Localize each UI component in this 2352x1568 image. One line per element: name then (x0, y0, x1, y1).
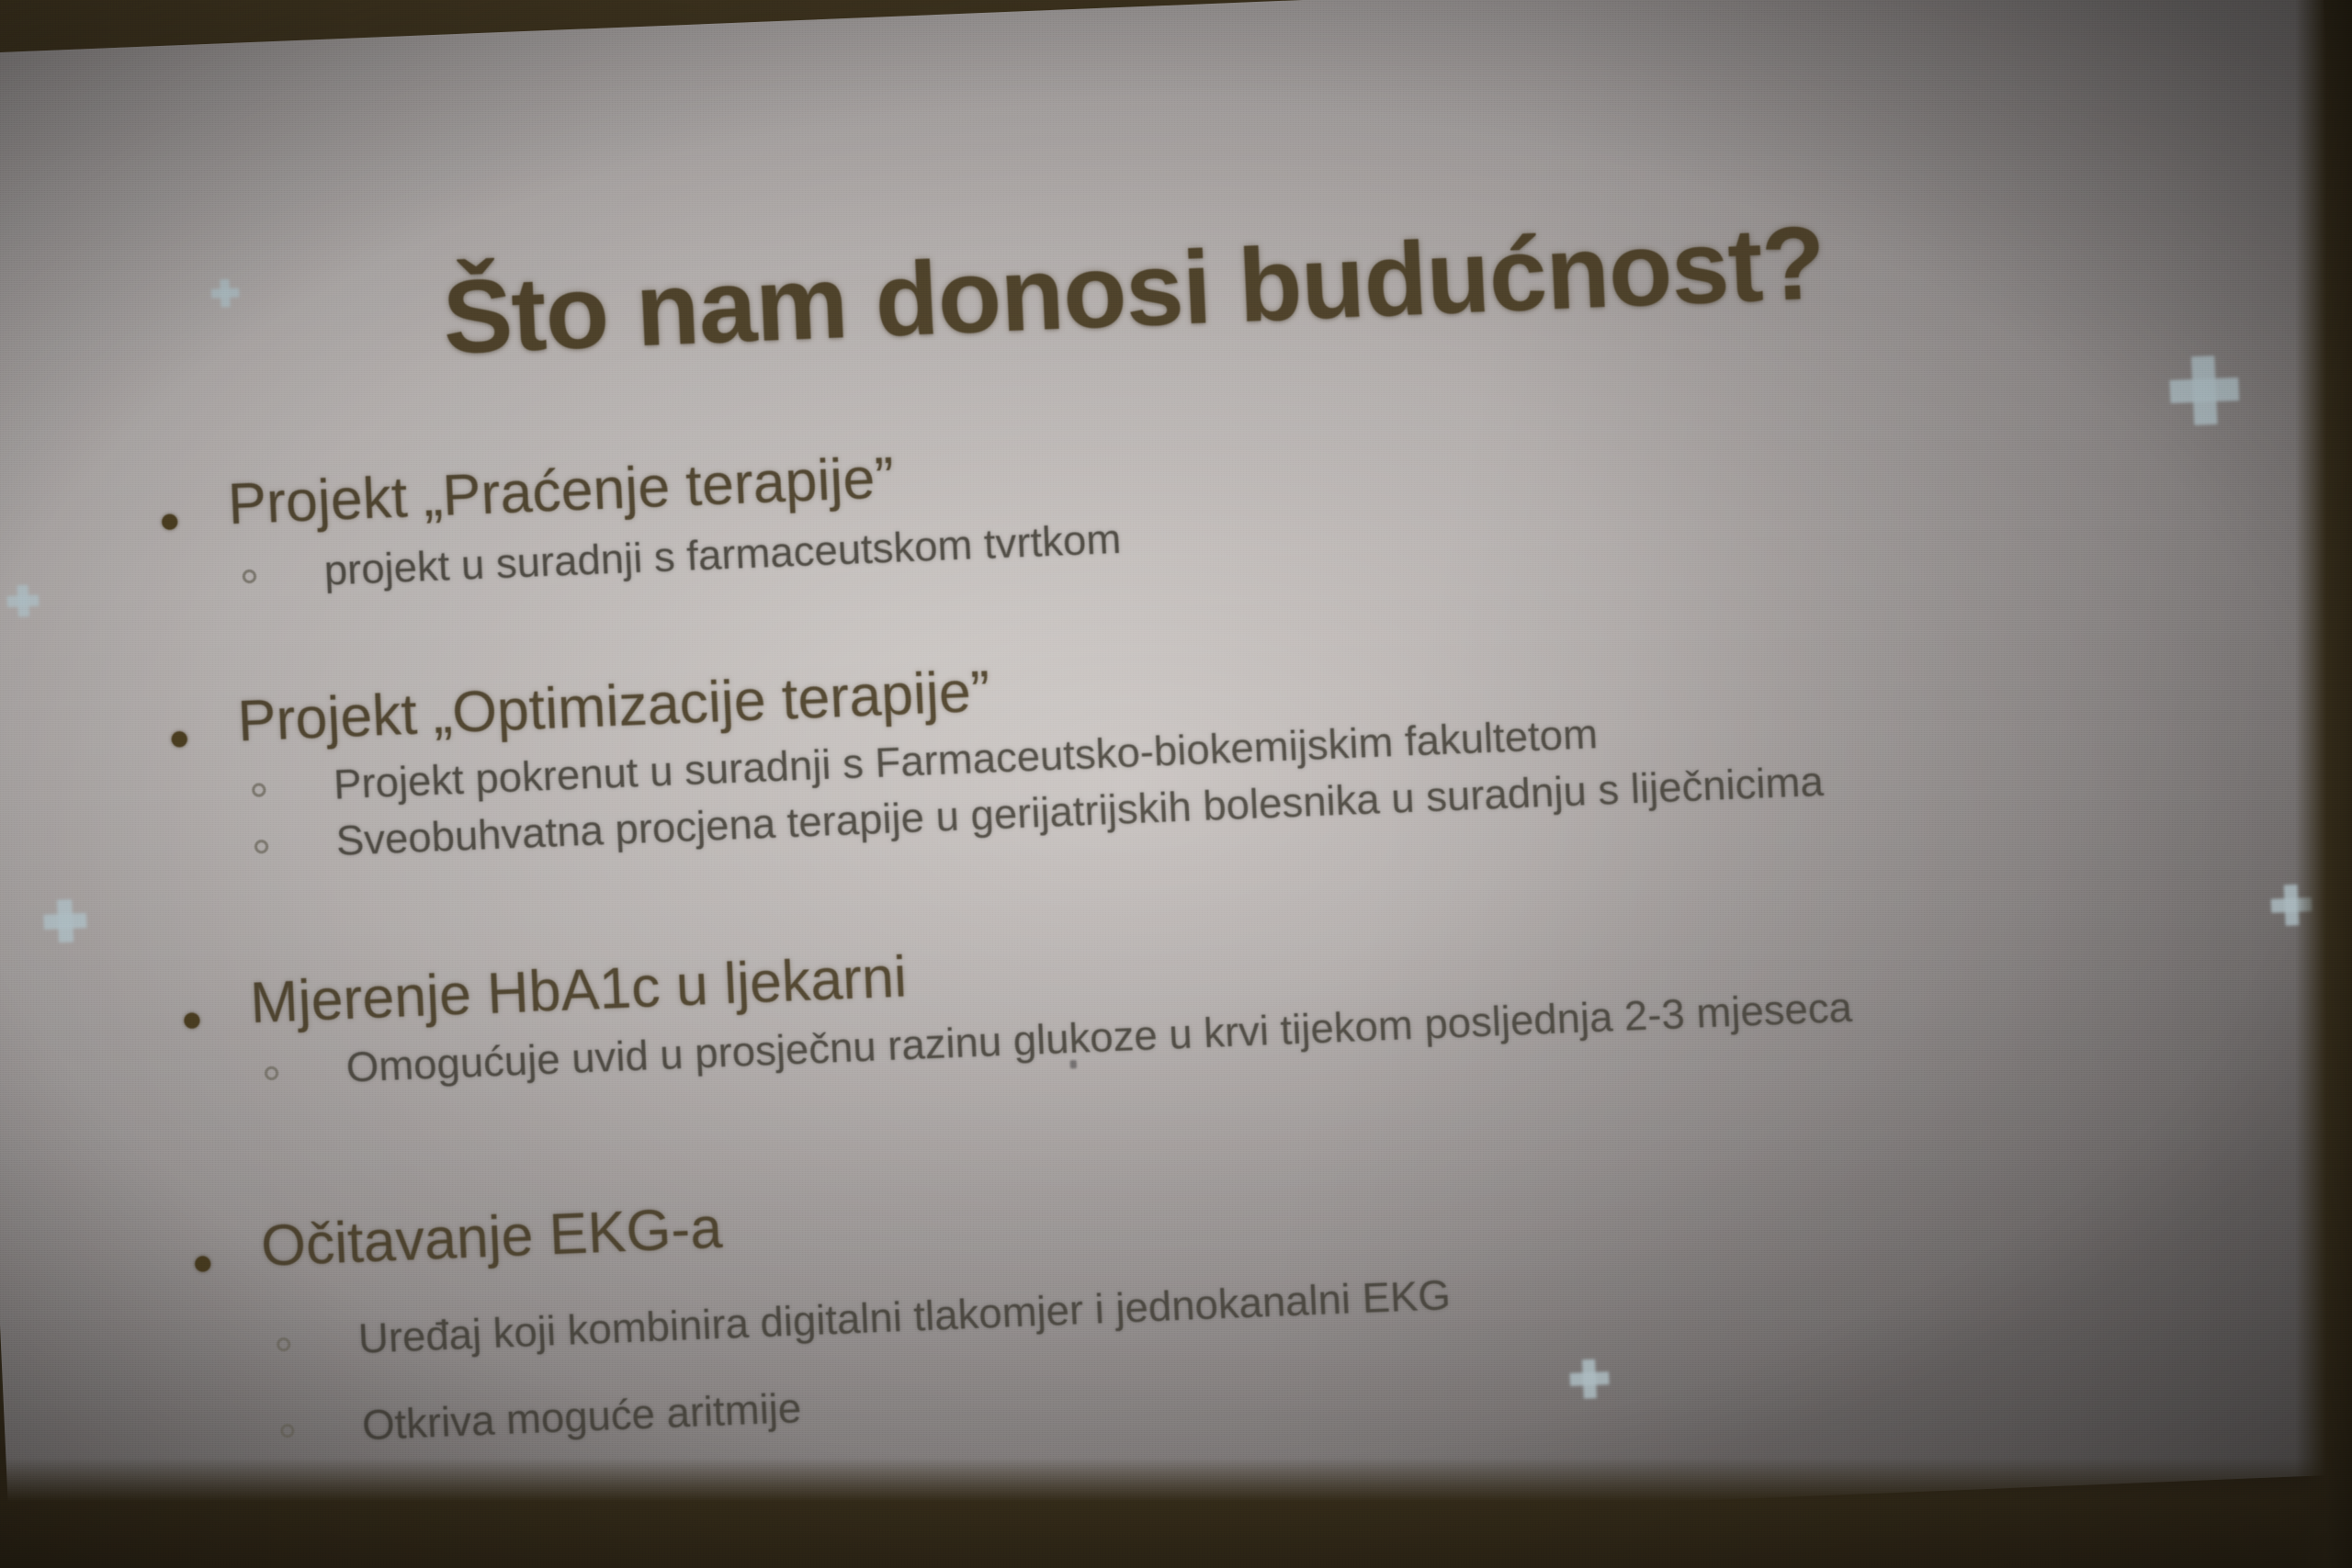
bullet-heading-text: Očitavanje EKG-a (260, 1196, 724, 1279)
bullet-heading-text: Projekt „Praćenje terapije” (227, 446, 896, 536)
plus-mark-left-upper (6, 584, 40, 617)
sub-bullet-text: Uređaj koji kombinira digitalni tlakomje… (357, 1271, 1452, 1362)
bullet-group: Očitavanje EKG-a Uređaj koji kombinira d… (158, 1135, 2305, 1458)
sub-bullet-circle-icon (243, 570, 257, 584)
bullet-dot-icon (162, 513, 178, 530)
slide-body: Projekt „Praćenje terapije” projekt u su… (125, 393, 2305, 1458)
plus-mark-top-left (210, 278, 240, 308)
screenshot-stage: Što nam donosi budućnost? Projekt „Praće… (0, 0, 2352, 1568)
slide-title: Što nam donosi budućnost? (440, 202, 1826, 378)
bullet-dot-icon (171, 731, 187, 748)
projection-screen-area: Što nam donosi budućnost? Projekt „Praće… (0, 0, 2352, 1568)
bullet-heading-text: Mjerenje HbA1c u ljekarni (249, 945, 908, 1035)
sub-bullet-circle-icon (280, 1424, 295, 1438)
sub-bullet-circle-icon (254, 840, 269, 854)
bullet-dot-icon (195, 1256, 211, 1272)
sub-bullet-text: Otkriva moguće aritmije (361, 1384, 802, 1450)
sub-bullet-circle-icon (265, 1066, 279, 1081)
bullet-group: Projekt „Praćenje terapije” projekt u su… (125, 393, 2267, 604)
bullet-group: Mjerenje HbA1c u ljekarni Omogućuje uvid… (147, 892, 2290, 1100)
plus-mark-left-lower (43, 899, 88, 943)
presentation-slide: Što nam donosi budućnost? Projekt „Praće… (0, 0, 2352, 1515)
bullet-dot-icon (184, 1012, 200, 1029)
bullet-group: Projekt „Optimizacije terapije” Projekt … (134, 610, 2278, 874)
sub-bullet-circle-icon (252, 783, 266, 797)
sub-bullet-circle-icon (277, 1337, 291, 1352)
